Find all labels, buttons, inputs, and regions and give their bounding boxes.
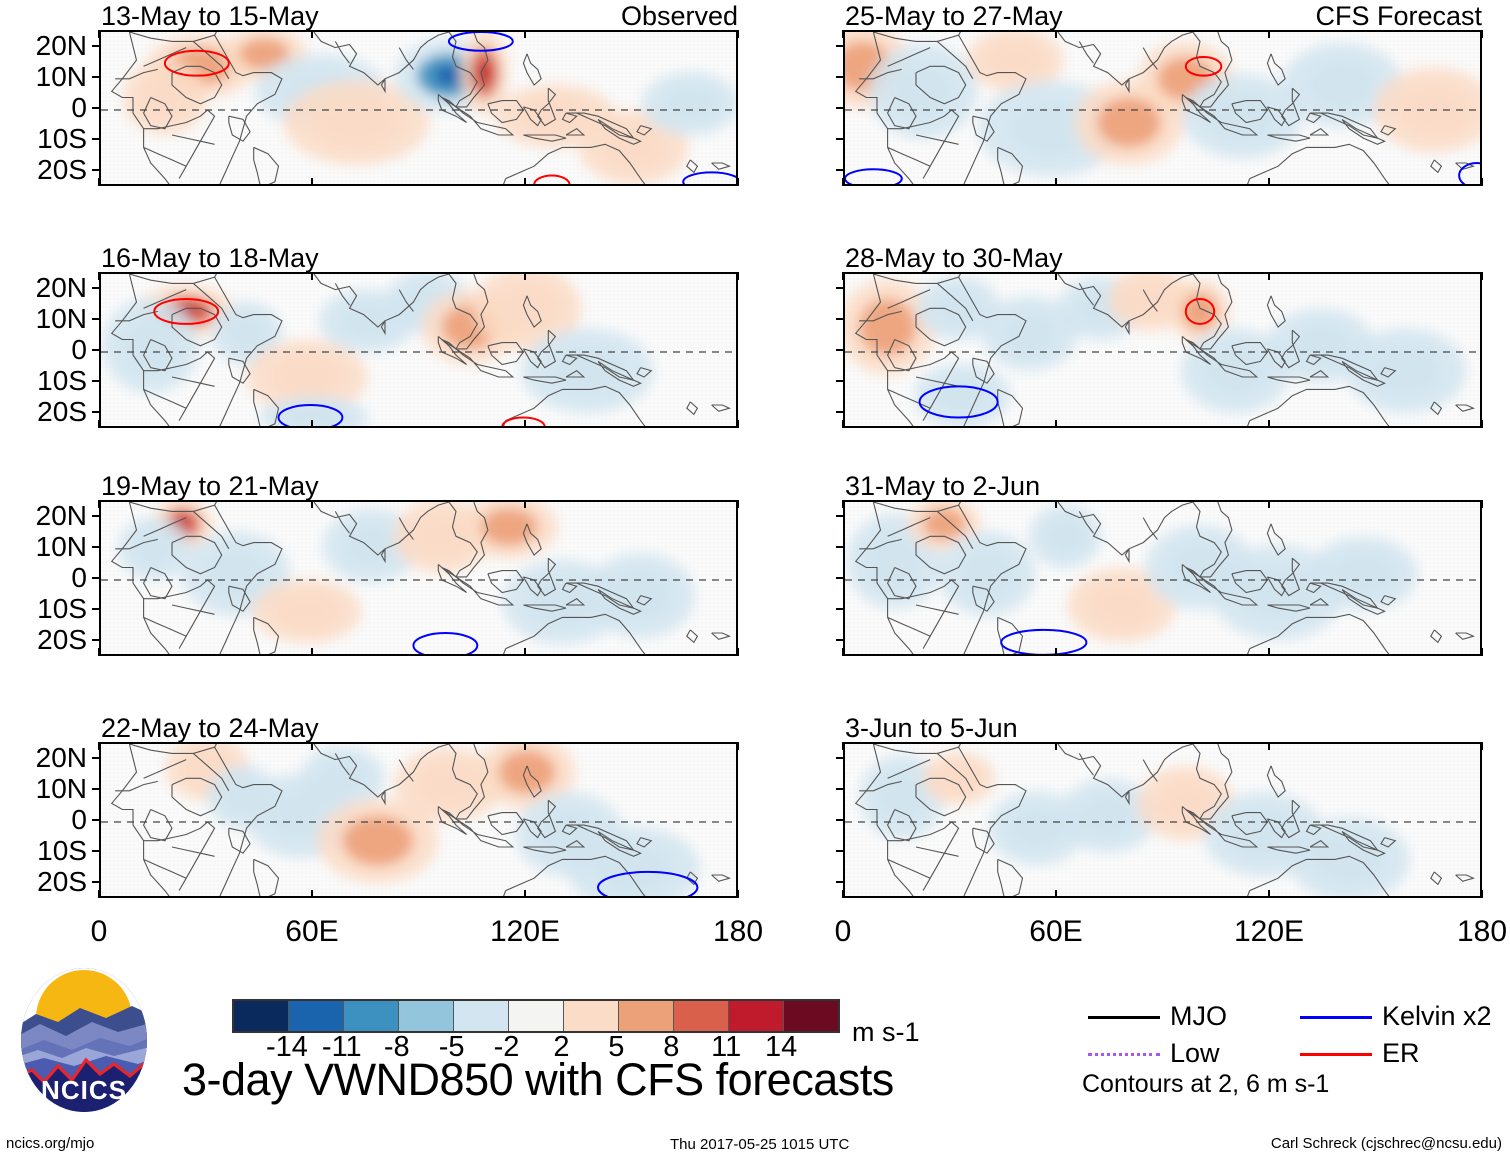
y-tick bbox=[92, 318, 100, 320]
x-tick bbox=[737, 742, 739, 750]
figure-title: 3-day VWND850 with CFS forecasts bbox=[182, 1057, 894, 1102]
x-tick bbox=[524, 272, 526, 280]
x-axis-label-60E: 60E bbox=[996, 917, 1116, 947]
x-tick bbox=[311, 890, 313, 898]
panel-title-3: 19-May to 21-May bbox=[101, 473, 319, 500]
y-tick bbox=[92, 380, 100, 382]
x-tick bbox=[311, 742, 313, 750]
x-tick bbox=[1481, 500, 1483, 508]
panel-title-4: 22-May to 24-May bbox=[101, 715, 319, 742]
map-panel-4[interactable] bbox=[99, 742, 738, 898]
legend-label-mjo: MJO bbox=[1170, 1003, 1227, 1030]
x-tick bbox=[1481, 648, 1483, 656]
x-tick bbox=[1481, 178, 1483, 186]
x-tick bbox=[842, 420, 844, 428]
y-tick bbox=[836, 287, 844, 289]
x-tick bbox=[524, 178, 526, 186]
y-axis-label-20S: 20S bbox=[0, 156, 87, 184]
colorbar-units-label: m s-1 bbox=[852, 1019, 920, 1046]
y-axis-label-10S: 10S bbox=[0, 595, 87, 623]
y-axis-label-20S: 20S bbox=[0, 398, 87, 426]
x-tick bbox=[842, 742, 844, 750]
x-tick bbox=[1268, 742, 1270, 750]
colorbar-segment-5 bbox=[509, 1001, 564, 1031]
x-tick bbox=[98, 30, 100, 38]
y-axis-label-20N: 20N bbox=[0, 274, 87, 302]
legend-label-er: ER bbox=[1382, 1040, 1420, 1067]
x-tick bbox=[1268, 420, 1270, 428]
x-tick bbox=[1481, 420, 1483, 428]
y-tick bbox=[92, 107, 100, 109]
footer-right: Carl Schreck (cjschrec@ncsu.edu) bbox=[1271, 1136, 1502, 1151]
colorbar-segment-6 bbox=[564, 1001, 619, 1031]
x-tick bbox=[737, 30, 739, 38]
x-tick bbox=[1268, 272, 1270, 280]
y-tick bbox=[836, 639, 844, 641]
x-axis-label-120E: 120E bbox=[1209, 917, 1329, 947]
x-tick bbox=[311, 648, 313, 656]
x-tick bbox=[1481, 742, 1483, 750]
y-tick bbox=[836, 608, 844, 610]
y-tick bbox=[92, 788, 100, 790]
panel-title-6: 28-May to 30-May bbox=[845, 245, 1063, 272]
x-tick bbox=[842, 648, 844, 656]
y-axis-label-10N: 10N bbox=[0, 533, 87, 561]
y-axis-label-10S: 10S bbox=[0, 125, 87, 153]
y-tick bbox=[92, 881, 100, 883]
x-tick bbox=[98, 648, 100, 656]
legend-label-kelvin-x2: Kelvin x2 bbox=[1382, 1003, 1492, 1030]
x-tick bbox=[1055, 178, 1057, 186]
x-tick bbox=[1268, 178, 1270, 186]
y-tick bbox=[92, 850, 100, 852]
colorbar-segment-3 bbox=[399, 1001, 454, 1031]
y-tick bbox=[92, 45, 100, 47]
x-tick bbox=[1055, 500, 1057, 508]
legend-swatch-low bbox=[1088, 1053, 1160, 1056]
x-axis-label-0: 0 bbox=[783, 917, 903, 947]
x-tick bbox=[524, 742, 526, 750]
x-tick bbox=[311, 178, 313, 186]
panel-title-1: 13-May to 15-May bbox=[101, 3, 319, 30]
y-tick bbox=[836, 788, 844, 790]
x-axis-label-120E: 120E bbox=[465, 917, 585, 947]
y-tick bbox=[836, 515, 844, 517]
y-axis-label-20N: 20N bbox=[0, 32, 87, 60]
map-panel-1[interactable] bbox=[99, 30, 738, 186]
y-axis-label-10N: 10N bbox=[0, 775, 87, 803]
map-panel-7[interactable] bbox=[843, 500, 1482, 656]
y-tick bbox=[836, 819, 844, 821]
y-tick bbox=[92, 411, 100, 413]
y-tick bbox=[836, 318, 844, 320]
map-field-1 bbox=[101, 32, 738, 186]
y-tick bbox=[92, 287, 100, 289]
y-tick bbox=[92, 138, 100, 140]
x-tick bbox=[1055, 890, 1057, 898]
x-tick bbox=[1268, 500, 1270, 508]
ncics-logo[interactable]: NCICS bbox=[14, 966, 154, 1114]
map-field-7 bbox=[845, 502, 1482, 656]
x-axis-label-180: 180 bbox=[1422, 917, 1510, 947]
x-tick bbox=[737, 420, 739, 428]
x-tick bbox=[524, 890, 526, 898]
colorbar-segment-10 bbox=[784, 1001, 838, 1031]
x-tick bbox=[1481, 272, 1483, 280]
y-tick bbox=[836, 546, 844, 548]
x-tick bbox=[842, 272, 844, 280]
y-tick bbox=[836, 881, 844, 883]
x-tick bbox=[737, 890, 739, 898]
colorbar-segment-0 bbox=[234, 1001, 289, 1031]
svg-text:NCICS: NCICS bbox=[41, 1075, 127, 1105]
panel-title-8: 3-Jun to 5-Jun bbox=[845, 715, 1018, 742]
y-tick bbox=[836, 138, 844, 140]
y-tick bbox=[836, 45, 844, 47]
x-tick bbox=[98, 890, 100, 898]
y-axis-label-20N: 20N bbox=[0, 502, 87, 530]
y-axis-label-0: 0 bbox=[0, 94, 87, 122]
x-tick bbox=[842, 178, 844, 186]
column-header-left: Observed bbox=[553, 3, 738, 30]
y-axis-label-0: 0 bbox=[0, 806, 87, 834]
x-tick bbox=[1268, 648, 1270, 656]
panel-title-7: 31-May to 2-Jun bbox=[845, 473, 1040, 500]
x-tick bbox=[524, 30, 526, 38]
y-tick bbox=[92, 757, 100, 759]
y-tick bbox=[92, 577, 100, 579]
x-tick bbox=[737, 648, 739, 656]
x-axis-label-60E: 60E bbox=[252, 917, 372, 947]
colorbar-segment-2 bbox=[344, 1001, 399, 1031]
x-tick bbox=[311, 30, 313, 38]
colorbar-segment-7 bbox=[619, 1001, 674, 1031]
colorbar-segment-8 bbox=[674, 1001, 729, 1031]
x-tick bbox=[311, 420, 313, 428]
map-field-5 bbox=[845, 32, 1482, 186]
legend-swatch-er bbox=[1300, 1053, 1372, 1056]
y-tick bbox=[836, 107, 844, 109]
map-field-8 bbox=[845, 744, 1482, 898]
map-panel-8[interactable] bbox=[843, 742, 1482, 898]
y-tick bbox=[92, 169, 100, 171]
y-axis-label-10N: 10N bbox=[0, 305, 87, 333]
x-tick bbox=[98, 742, 100, 750]
footer-left[interactable]: ncics.org/mjo bbox=[6, 1136, 94, 1151]
x-tick bbox=[1055, 272, 1057, 280]
x-tick bbox=[1055, 648, 1057, 656]
contour-note: Contours at 2, 6 m s-1 bbox=[1082, 1072, 1329, 1097]
x-tick bbox=[98, 420, 100, 428]
x-tick bbox=[1055, 420, 1057, 428]
x-tick bbox=[311, 272, 313, 280]
colorbar-segment-1 bbox=[289, 1001, 344, 1031]
x-tick bbox=[737, 272, 739, 280]
panel-title-5: 25-May to 27-May bbox=[845, 3, 1063, 30]
x-tick bbox=[311, 500, 313, 508]
y-axis-label-20S: 20S bbox=[0, 868, 87, 896]
y-tick bbox=[836, 577, 844, 579]
map-field-4 bbox=[101, 744, 738, 898]
legend-swatch-mjo bbox=[1088, 1016, 1160, 1019]
x-tick bbox=[1481, 30, 1483, 38]
x-tick bbox=[1268, 30, 1270, 38]
panel-title-2: 16-May to 18-May bbox=[101, 245, 319, 272]
x-tick bbox=[524, 420, 526, 428]
y-tick bbox=[92, 608, 100, 610]
x-tick bbox=[1268, 890, 1270, 898]
x-tick bbox=[1055, 742, 1057, 750]
x-tick bbox=[842, 890, 844, 898]
y-tick bbox=[92, 639, 100, 641]
column-header-right: CFS Forecast bbox=[1297, 3, 1482, 30]
map-panel-6[interactable] bbox=[843, 272, 1482, 428]
y-tick bbox=[836, 349, 844, 351]
x-tick bbox=[98, 500, 100, 508]
y-tick bbox=[92, 76, 100, 78]
colorbar-segment-4 bbox=[454, 1001, 509, 1031]
legend-label-low: Low bbox=[1170, 1040, 1220, 1067]
y-axis-label-0: 0 bbox=[0, 564, 87, 592]
x-tick bbox=[98, 272, 100, 280]
footer-center: Thu 2017-05-25 1015 UTC bbox=[670, 1137, 849, 1152]
y-tick bbox=[836, 757, 844, 759]
x-tick bbox=[98, 178, 100, 186]
legend-swatch-kelvin-x2 bbox=[1300, 1016, 1372, 1019]
y-tick bbox=[836, 169, 844, 171]
x-tick bbox=[842, 30, 844, 38]
map-panel-3[interactable] bbox=[99, 500, 738, 656]
x-tick bbox=[737, 178, 739, 186]
map-panel-5[interactable] bbox=[843, 30, 1482, 186]
x-tick bbox=[524, 500, 526, 508]
y-tick bbox=[92, 515, 100, 517]
map-field-3 bbox=[101, 502, 738, 656]
map-field-2 bbox=[101, 274, 738, 428]
x-axis-label-180: 180 bbox=[678, 917, 798, 947]
x-tick bbox=[1055, 30, 1057, 38]
y-tick bbox=[92, 546, 100, 548]
x-tick bbox=[1481, 890, 1483, 898]
y-tick bbox=[836, 850, 844, 852]
y-axis-label-10S: 10S bbox=[0, 837, 87, 865]
y-axis-label-20N: 20N bbox=[0, 744, 87, 772]
y-axis-label-10N: 10N bbox=[0, 63, 87, 91]
y-axis-label-20S: 20S bbox=[0, 626, 87, 654]
map-panel-2[interactable] bbox=[99, 272, 738, 428]
y-axis-label-0: 0 bbox=[0, 336, 87, 364]
y-tick bbox=[92, 819, 100, 821]
y-tick bbox=[836, 76, 844, 78]
y-tick bbox=[836, 380, 844, 382]
y-axis-label-10S: 10S bbox=[0, 367, 87, 395]
y-tick bbox=[92, 349, 100, 351]
x-tick bbox=[737, 500, 739, 508]
ncics-logo-svg: NCICS bbox=[14, 966, 154, 1114]
x-axis-label-0: 0 bbox=[39, 917, 159, 947]
y-tick bbox=[836, 411, 844, 413]
x-tick bbox=[842, 500, 844, 508]
x-tick bbox=[524, 648, 526, 656]
colorbar-segment-9 bbox=[729, 1001, 784, 1031]
colorbar bbox=[232, 999, 840, 1033]
map-field-6 bbox=[845, 274, 1482, 428]
